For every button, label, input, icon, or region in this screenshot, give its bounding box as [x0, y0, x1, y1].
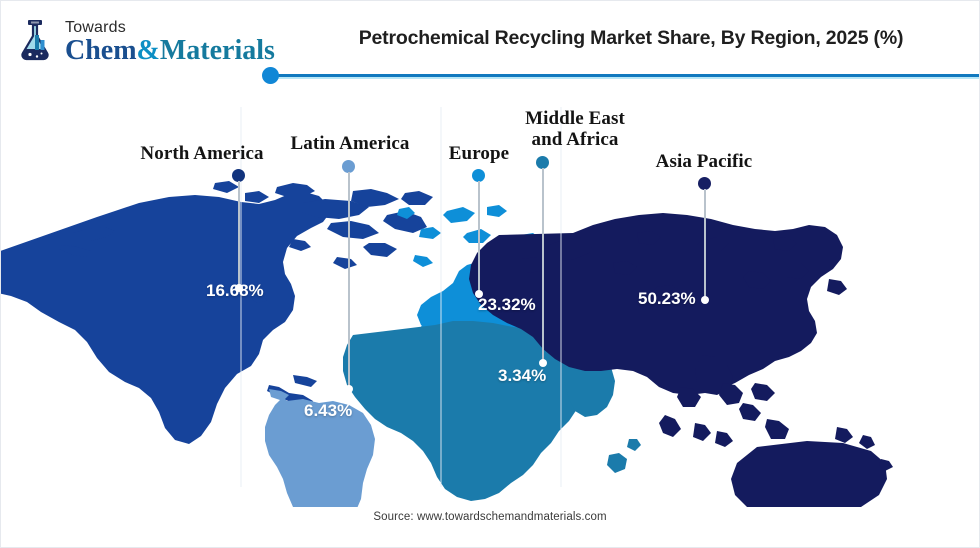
brand-ampersand: &	[137, 35, 160, 66]
value-middle-east-africa: 3.34%	[498, 366, 546, 386]
callout-tip-middle-east-africa	[539, 359, 547, 367]
brand-top-line: Towards	[65, 20, 275, 36]
brand-logo[interactable]: Towards Chem&Materials	[15, 19, 275, 65]
callout-label-mea-line1: Middle East	[525, 108, 625, 129]
value-north-america: 16.68%	[206, 281, 264, 301]
brand-main-line: Chem&Materials	[65, 37, 275, 65]
page-title: Petrochemical Recycling Market Share, By…	[301, 27, 961, 50]
brand-chem: Chem	[65, 35, 137, 66]
callout-stem-north-america	[238, 181, 240, 287]
infographic-canvas: Towards Chem&Materials Petrochemical Rec…	[0, 0, 980, 548]
callout-label-latin-america: Latin America	[279, 134, 421, 155]
callout-tip-asia-pacific	[701, 296, 709, 304]
callout-stem-latin-america	[348, 172, 350, 388]
callout-label-north-america: North America	[129, 144, 275, 165]
callout-label-middle-east-africa: Middle East and Africa	[510, 109, 640, 150]
value-asia-pacific: 50.23%	[638, 289, 696, 309]
callout-tip-latin-america	[345, 385, 353, 393]
brand-materials: Materials	[160, 35, 275, 66]
callout-tip-europe	[475, 290, 483, 298]
callout-stem-asia-pacific	[704, 189, 706, 299]
callout-tip-north-america	[235, 284, 243, 292]
callout-label-asia-pacific: Asia Pacific	[615, 152, 793, 173]
source-note: Source: www.towardschemandmaterials.com	[1, 511, 979, 523]
callout-stem-middle-east-africa	[542, 168, 544, 362]
callout-stem-europe	[478, 181, 480, 293]
header-divider-glow	[269, 77, 979, 79]
value-europe: 23.32%	[478, 295, 536, 315]
header-divider-dot	[262, 67, 279, 84]
value-latin-america: 6.43%	[304, 401, 352, 421]
callout-label-mea-line2: and Africa	[531, 129, 618, 150]
flask-icon	[15, 19, 59, 65]
